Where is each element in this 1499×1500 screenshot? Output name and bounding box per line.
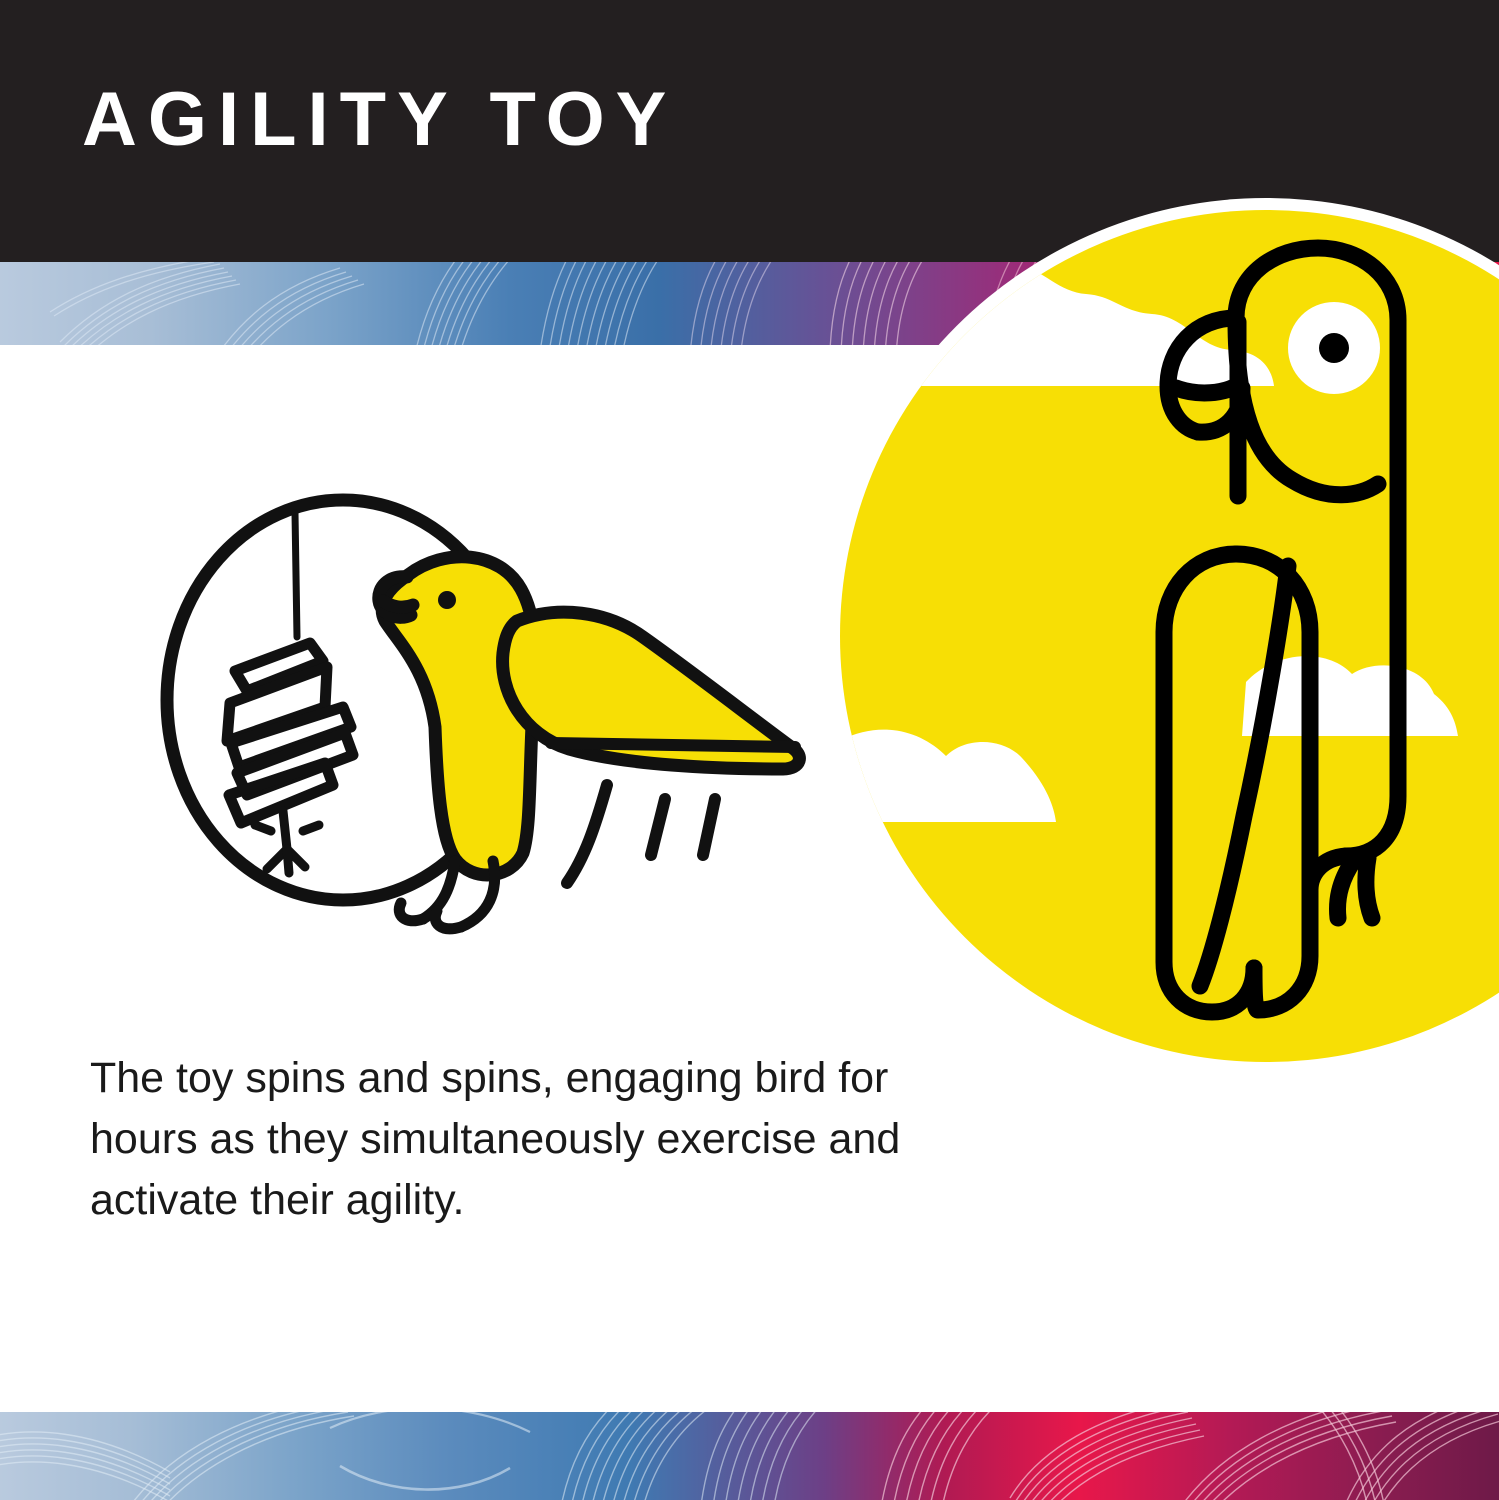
parrot-eye-pupil xyxy=(1319,333,1349,363)
motion-lines xyxy=(567,785,715,883)
feather-band-bottom xyxy=(0,1412,1499,1500)
page-title: AGILITY TOY xyxy=(82,82,677,158)
parrot-medallion xyxy=(936,196,1499,1086)
toy-icon-graphic xyxy=(155,455,835,965)
bird-with-ladder-toy-icon xyxy=(155,455,835,965)
parrot-illustration-graphic xyxy=(936,196,1499,1086)
feather-band-bottom-graphic xyxy=(0,1412,1499,1500)
description-text: The toy spins and spins, engaging bird f… xyxy=(90,1048,970,1231)
bird-eye xyxy=(438,591,456,609)
product-feature-card: AGILITY TOY xyxy=(0,0,1499,1500)
